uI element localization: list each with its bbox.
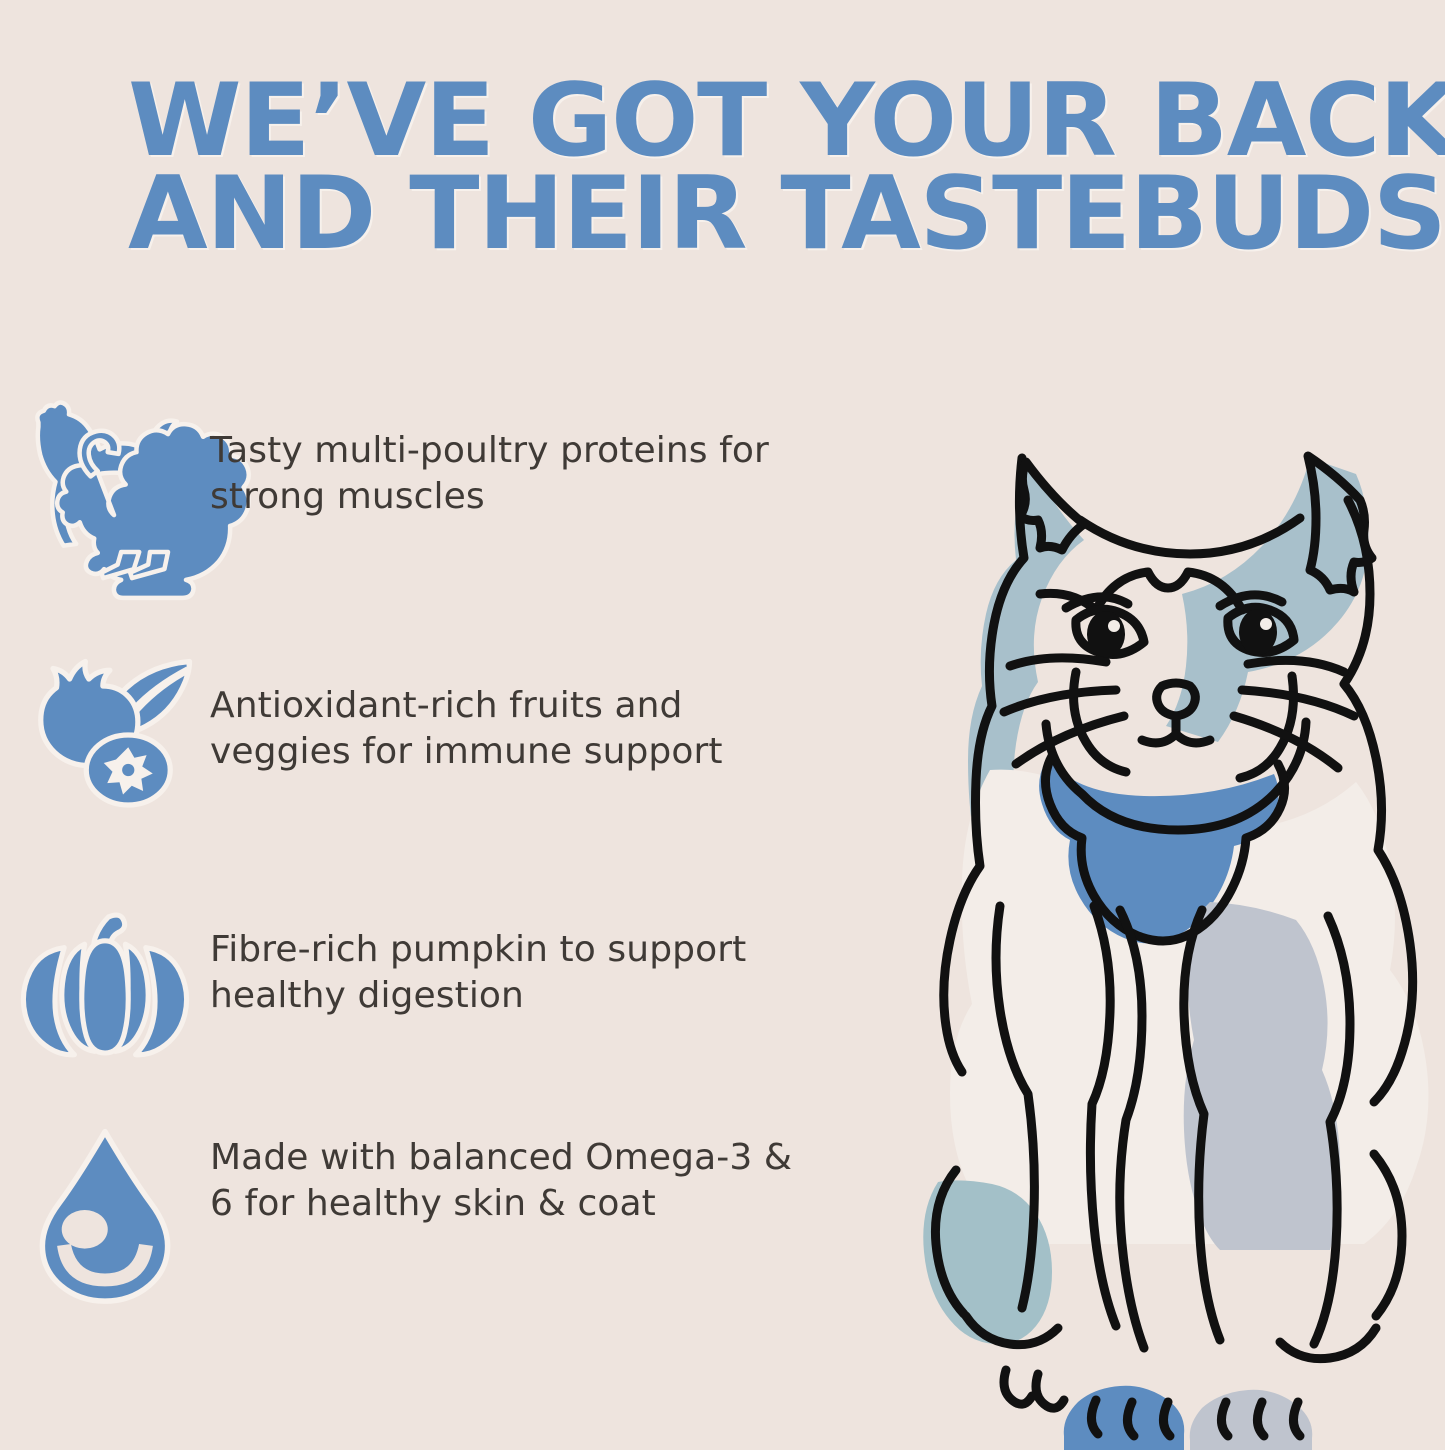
headline-line-2: AND THEIR TASTEBUDS. [128, 167, 1383, 260]
pumpkin-icon [0, 895, 210, 1075]
berries-icon [0, 645, 210, 825]
water-drop-icon [0, 1125, 210, 1305]
feature-label: Made with balanced Omega-3 & 6 for healt… [210, 1125, 810, 1227]
cat-illustration [880, 440, 1445, 1450]
feature-label: Fibre-rich pumpkin to support healthy di… [210, 895, 810, 1019]
cat-pupils [1087, 609, 1277, 657]
promo-graphic: WE’VE GOT YOUR BACK. AND THEIR TASTEBUDS… [0, 0, 1445, 1445]
poultry-icon [0, 390, 210, 570]
feature-label: Antioxidant-rich fruits and veggies for … [210, 645, 810, 775]
feature-item: Antioxidant-rich fruits and veggies for … [0, 645, 900, 825]
feature-item: Tasty multi-poultry proteins for strong … [0, 390, 900, 570]
headline: WE’VE GOT YOUR BACK. AND THEIR TASTEBUDS… [128, 74, 1358, 260]
feature-item: Made with balanced Omega-3 & 6 for healt… [0, 1125, 900, 1305]
feature-item: Fibre-rich pumpkin to support healthy di… [0, 895, 900, 1075]
feature-label: Tasty multi-poultry proteins for strong … [210, 390, 810, 520]
